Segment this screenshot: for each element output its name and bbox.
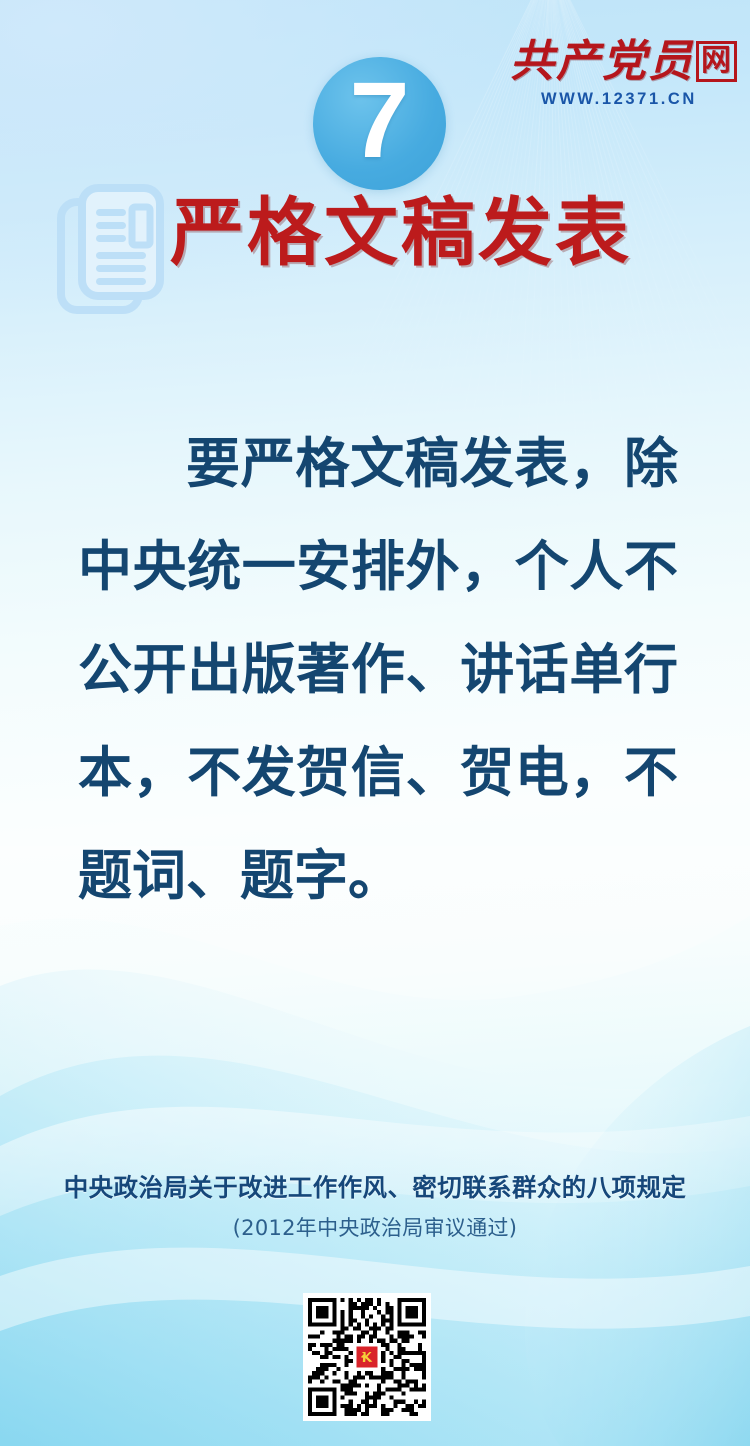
- footer-regulation-subtitle: (2012年中央政治局审议通过): [0, 1212, 750, 1242]
- site-logo-brand-boxed: 网: [696, 41, 737, 82]
- site-logo[interactable]: 共产党员网 WWW.12371.CN: [510, 38, 728, 114]
- page-title: 严格文稿发表: [0, 196, 750, 270]
- rule-body-text: 要严格文稿发表，除中央统一安排外，个人不公开出版著作、讲话单行本，不发贺信、贺电…: [78, 412, 678, 927]
- party-emblem-icon: [355, 1345, 380, 1370]
- hammer-sickle-glyph: [360, 1351, 375, 1364]
- site-logo-url: WWW.12371.CN: [510, 90, 728, 109]
- site-logo-wordmark: 共产党员网: [510, 38, 728, 86]
- qr-code[interactable]: [303, 1293, 431, 1421]
- poster-canvas: 共产党员网 WWW.12371.CN 7 严格文稿发表 要严格文稿发表，除中央统…: [0, 0, 750, 1446]
- site-logo-brand: 共产党员: [510, 36, 694, 87]
- footer-regulation-title: 中央政治局关于改进工作作风、密切联系群众的八项规定: [0, 1169, 750, 1204]
- item-number-badge: 7: [313, 57, 446, 190]
- item-number-value: 7: [313, 57, 446, 190]
